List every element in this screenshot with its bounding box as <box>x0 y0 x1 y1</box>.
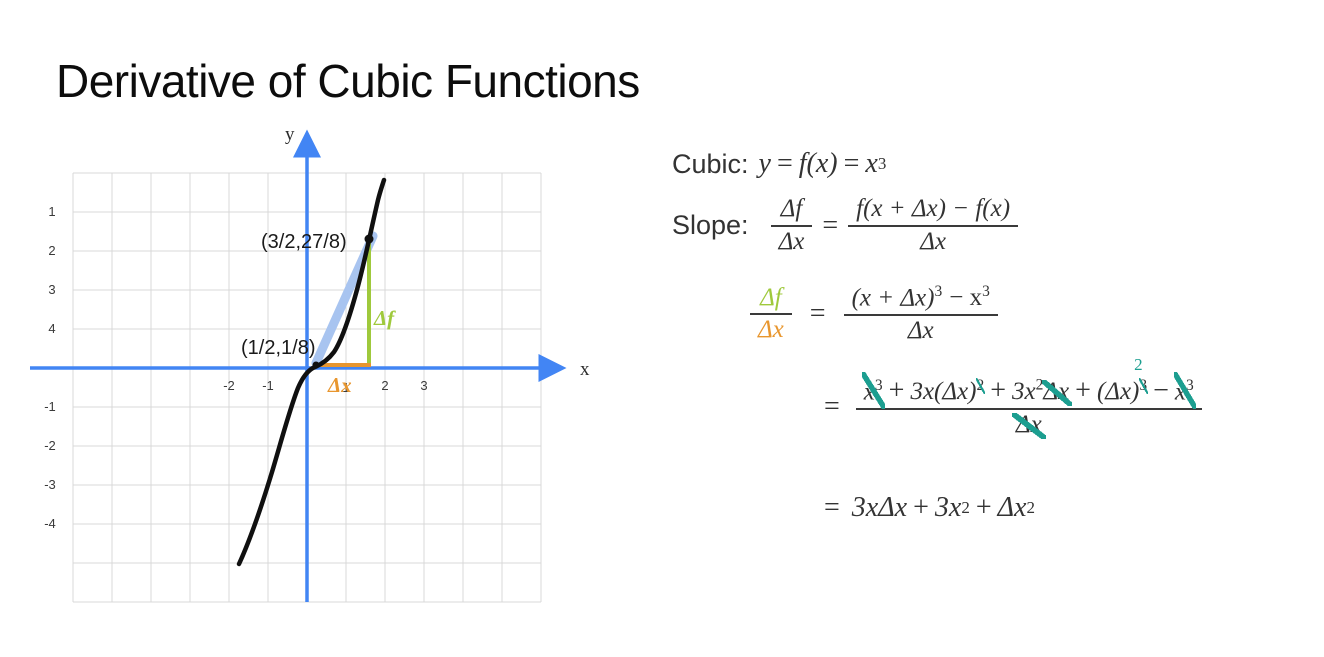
expand-binomial: (x + Δx) <box>852 284 935 311</box>
cancel-x: x <box>864 378 875 405</box>
cancelled-delta-x-term-3: Δx <box>1043 378 1069 407</box>
derivation-panel: Cubic: y = f (x) = x3 Slope: Δf Δx = f(x… <box>668 142 1318 562</box>
cubic-rhs-base: x <box>865 148 877 180</box>
y-tick-label: -1 <box>44 399 56 414</box>
expand-rhs-denominator: Δx <box>900 316 942 347</box>
result-plus-1: + <box>907 492 935 524</box>
slope-rhs-numerator: f(x + Δx) − f(x) <box>848 194 1018 225</box>
cancel-plus-2: + <box>984 375 1012 406</box>
page-title: Derivative of Cubic Functions <box>56 54 640 108</box>
expand-equals: = <box>796 298 840 330</box>
delta-x-label: Δx <box>327 373 352 397</box>
slope-rhs-denominator: Δx <box>912 227 954 258</box>
cancel-term-2: 3x(Δx) <box>910 378 976 405</box>
cancelled-exponent-term-2: 2 <box>976 377 984 395</box>
cubic-graph-figure: y x 4 3 2 1 -1 -2 -3 -4 -2 -1 1 2 3 (3/2… <box>0 120 620 620</box>
cancelled-term-x-cubed-2: x3 <box>1175 377 1194 407</box>
cancel-term-3-coefficient: 3x <box>1012 378 1036 405</box>
cancel-term-5: x <box>1175 378 1186 405</box>
expand-lhs-fraction: Δf Δx <box>750 283 792 347</box>
cubic-equals-1: = <box>771 148 799 180</box>
expand-minus-x-exponent: 3 <box>982 283 990 300</box>
x-tick-label: -1 <box>262 378 274 393</box>
y-tick-label: 3 <box>48 282 55 297</box>
result-term-2-exponent: 2 <box>961 498 970 518</box>
cancel-fraction: x3+3x(Δx)2+3x2Δx+(Δx)32−x3 Δx <box>856 374 1202 441</box>
point-label-lower: (1/2,1/8) <box>241 337 315 359</box>
expand-lhs-denominator: Δx <box>750 315 792 346</box>
delta-f-label: Δf <box>373 306 396 330</box>
cancelled-exponent-term-4: 3 <box>1139 377 1147 395</box>
point-label-upper: (3/2,27/8) <box>261 231 347 253</box>
cubic-rhs-exponent: 3 <box>878 154 887 174</box>
slope-equals: = <box>816 210 844 242</box>
equation-cancel: = x3+3x(Δx)2+3x2Δx+(Δx)32−x3 Δx <box>818 374 1206 441</box>
equation-slope: Slope: Δf Δx = f(x + Δx) − f(x) Δx <box>672 194 1022 258</box>
cancelled-denominator-delta-x: Δx <box>1016 411 1042 440</box>
result-equals: = <box>818 492 852 524</box>
slope-lhs-denominator: Δx <box>771 227 813 258</box>
cancel-x-exponent: 3 <box>875 377 883 394</box>
cubic-y: y <box>759 148 771 180</box>
y-tick-label: -2 <box>44 438 56 453</box>
graph-svg: y x 4 3 2 1 -1 -2 -3 -4 -2 -1 1 2 3 (3/2… <box>0 120 620 620</box>
equation-cubic: Cubic: y = f (x) = x3 <box>672 148 886 180</box>
cubic-equals-2: = <box>838 148 866 180</box>
result-term-3-exponent: 2 <box>1027 498 1036 518</box>
cancel-numerator: x3+3x(Δx)2+3x2Δx+(Δx)32−x3 <box>856 374 1202 408</box>
slope-label: Slope: <box>672 210 749 241</box>
slope-rhs-fraction: f(x + Δx) − f(x) Δx <box>848 194 1018 258</box>
y-tick-label: 1 <box>48 204 55 219</box>
cancel-minus: − <box>1147 375 1175 406</box>
expand-rhs-fraction: (x + Δx)3− x3 Δx <box>844 282 998 347</box>
expand-minus-x: − x <box>942 284 982 311</box>
y-tick-label: 2 <box>48 243 55 258</box>
equation-expand: Δf Δx = (x + Δx)3− x3 Δx <box>746 282 1002 347</box>
cubic-label: Cubic: <box>672 149 749 180</box>
point-marker-upper <box>365 235 374 244</box>
result-plus-2: + <box>970 492 998 524</box>
x-tick-label: 2 <box>381 378 388 393</box>
result-term-1: 3xΔx <box>852 492 907 524</box>
equation-result: = 3xΔx + 3x2 + Δx2 <box>818 492 1035 524</box>
expand-lhs-numerator: Δf <box>752 283 790 314</box>
y-tick-label: 4 <box>48 321 55 336</box>
cancel-denominator: Δx <box>1008 410 1050 441</box>
slope-lhs-numerator: Δf <box>773 194 811 225</box>
cancelled-term-x-cubed: x3 <box>864 377 883 407</box>
cancel-term-4: (Δx) <box>1097 378 1139 405</box>
axis-label-y: y <box>285 124 295 145</box>
slope-lhs-fraction: Δf Δx <box>771 194 813 258</box>
point-marker-lower <box>313 362 320 369</box>
cancel-plus-1: + <box>883 375 911 406</box>
result-term-3: Δx <box>998 492 1027 524</box>
axis-label-x: x <box>580 359 590 380</box>
y-tick-label: -4 <box>44 516 56 531</box>
exponent-correction-2: 2 <box>1134 355 1143 375</box>
result-term-2: 3x <box>935 492 961 524</box>
cancel-plus-3: + <box>1069 375 1097 406</box>
cancel-equals: = <box>818 391 852 423</box>
cubic-f: f <box>799 148 807 180</box>
x-tick-label: 3 <box>420 378 427 393</box>
y-tick-label: -3 <box>44 477 56 492</box>
x-tick-label: -2 <box>223 378 235 393</box>
expand-rhs-numerator: (x + Δx)3− x3 <box>844 282 998 314</box>
cancel-term-5-exponent: 3 <box>1186 377 1194 394</box>
cubic-argument: (x) <box>807 148 838 180</box>
